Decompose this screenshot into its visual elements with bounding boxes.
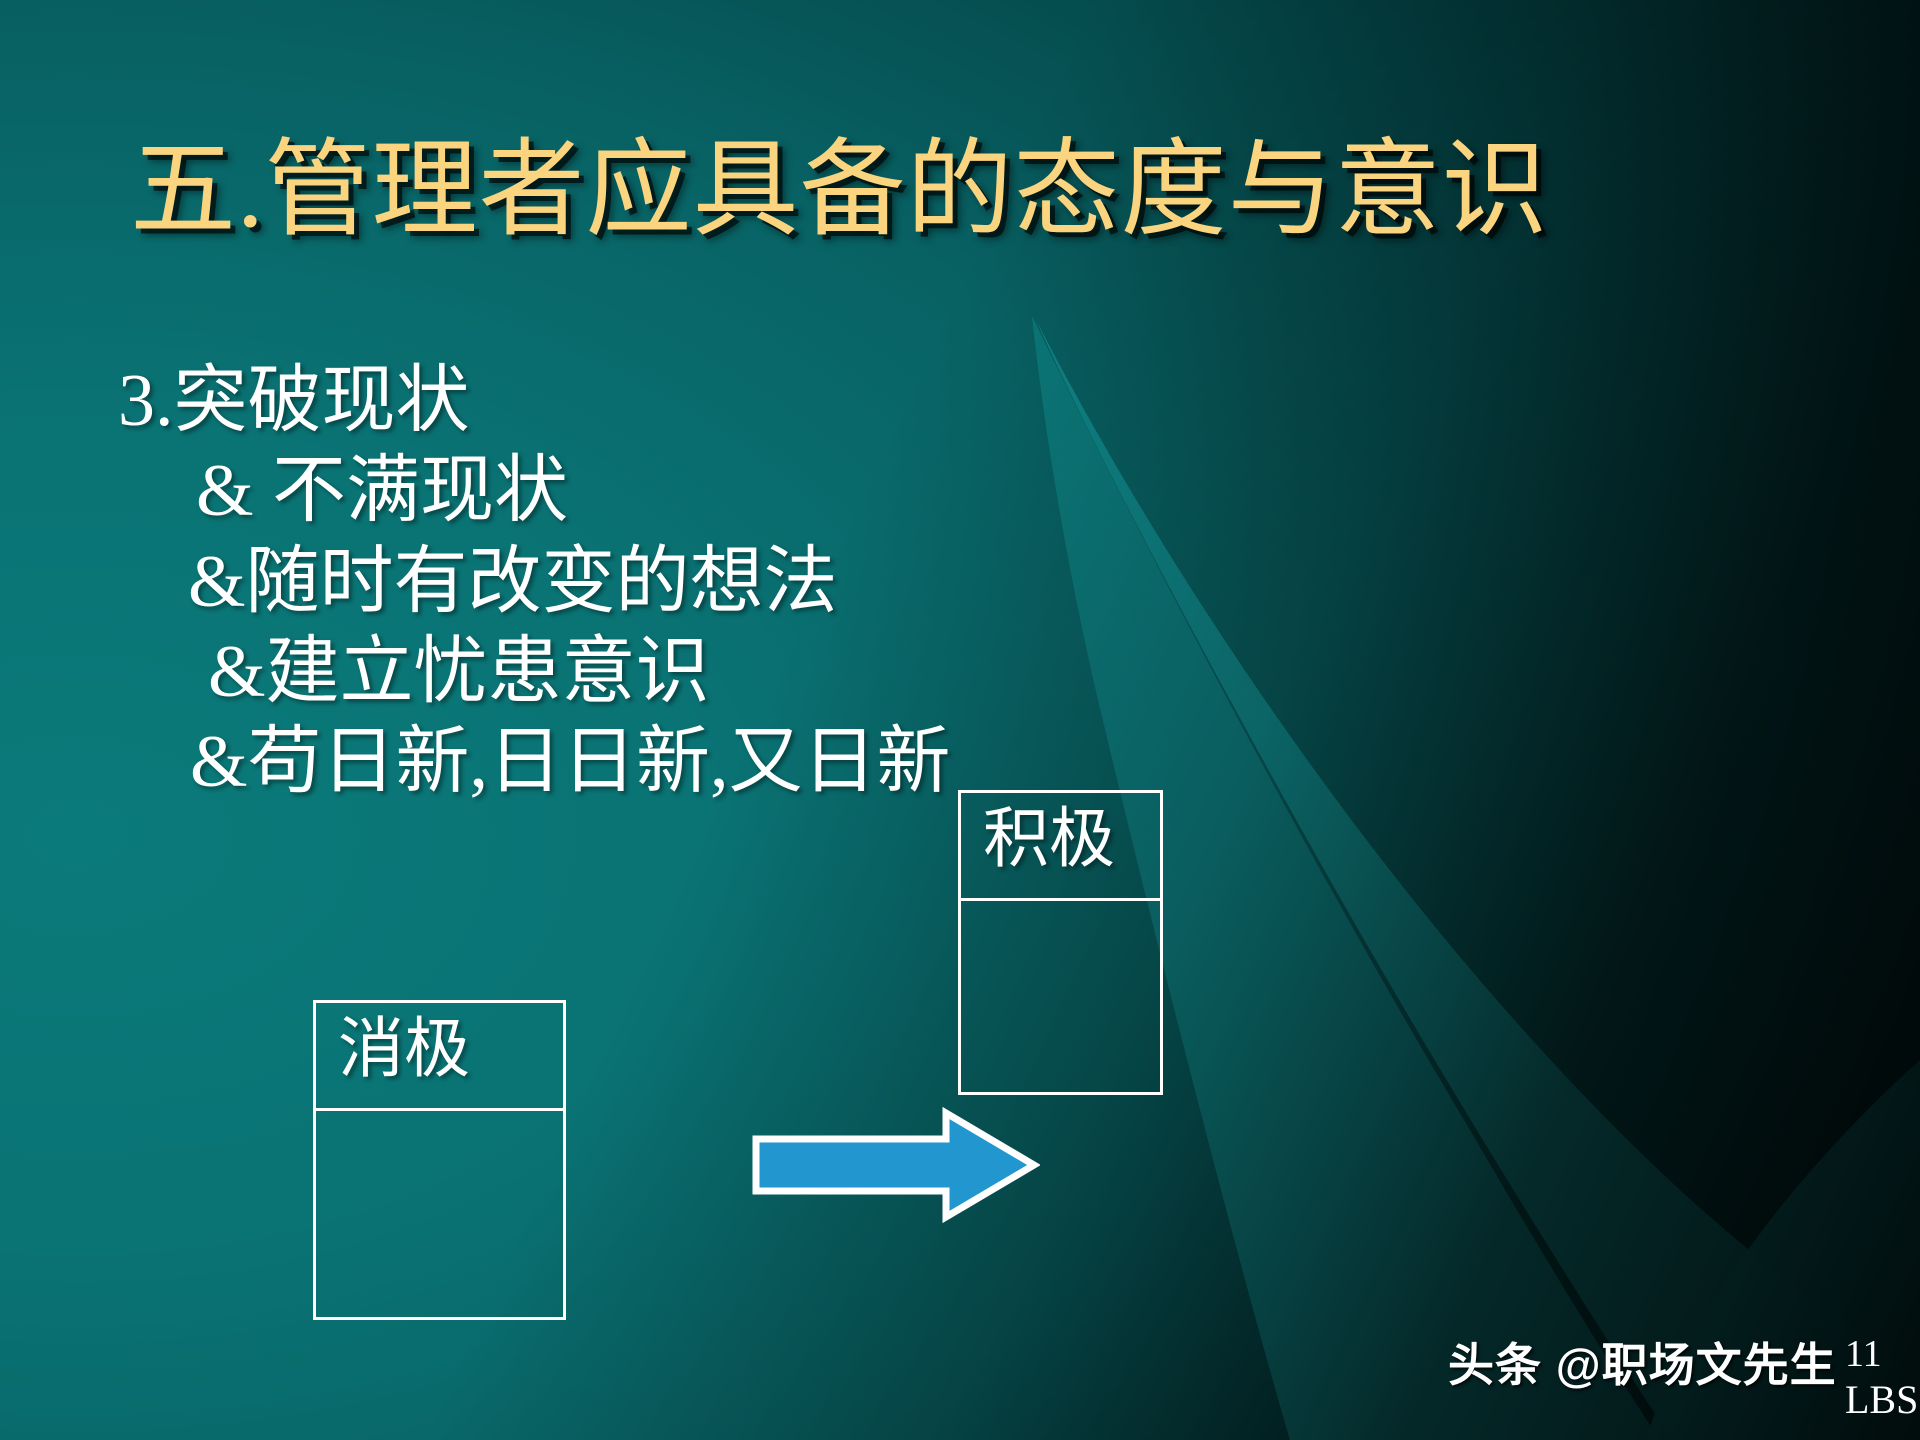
footer-code: LBS: [1845, 1380, 1918, 1420]
negative-state-label: 消极: [316, 1003, 563, 1111]
slide-body: 3.突破现状 & 不满现状 &随时有改变的想法 &建立忧患意识 &苟日新,日日新…: [118, 356, 1318, 807]
page-number: 11: [1845, 1335, 1882, 1373]
presentation-slide: 五.管理者应具备的态度与意识 3.突破现状 & 不满现状 &随时有改变的想法 &…: [0, 0, 1920, 1440]
slide-title: 五.管理者应具备的态度与意识: [130, 128, 1770, 253]
positive-state-box: 积极: [958, 790, 1163, 1095]
negative-state-box: 消极: [313, 1000, 566, 1320]
body-heading: 3.突破现状: [118, 356, 1318, 446]
transition-arrow-right-icon: [750, 1105, 1040, 1225]
bullet-item-1: & 不满现状: [196, 446, 1318, 536]
bullet-item-3: &建立忧患意识: [208, 627, 1318, 717]
positive-state-label: 积极: [961, 793, 1160, 901]
bullet-item-2: &随时有改变的想法: [188, 537, 1318, 627]
watermark-text: 头条 @职场文先生: [1448, 1342, 1837, 1388]
